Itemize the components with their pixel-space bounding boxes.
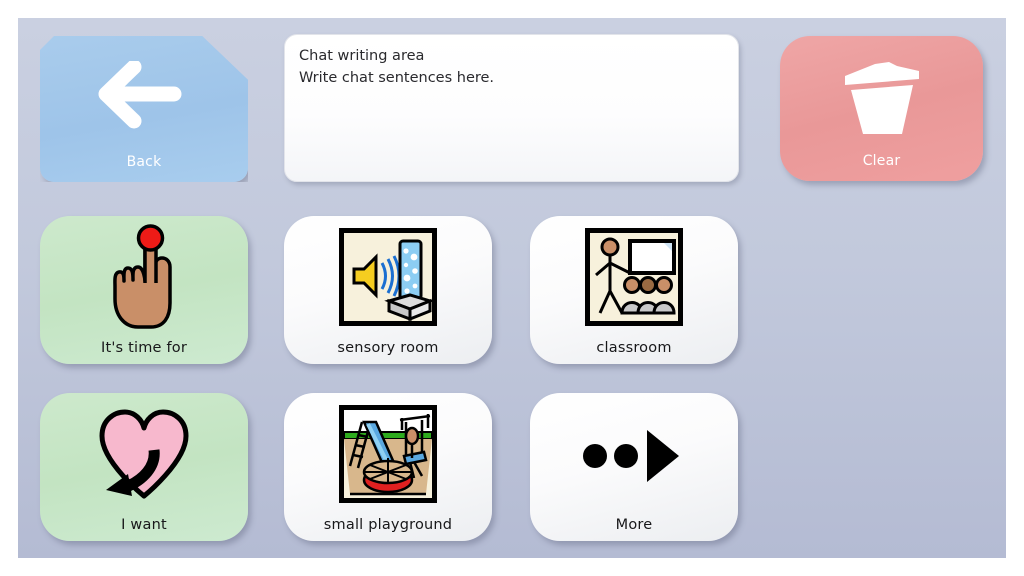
cell-label: I want [40, 517, 248, 533]
cell-label: small playground [284, 517, 492, 533]
pointing-hand-icon [40, 216, 248, 338]
cell-label: It's time for [40, 340, 248, 356]
arrow-left-icon [40, 36, 248, 156]
communication-board: Back Chat writing area Write chat senten… [18, 18, 1006, 558]
heart-arrow-icon [40, 393, 248, 515]
bubble-tube-speaker-icon [339, 228, 437, 326]
cell-sensory-room[interactable]: sensory room [284, 216, 492, 364]
cell-classroom[interactable]: classroom [530, 216, 738, 364]
chat-line-title: Chat writing area [299, 45, 724, 67]
back-button-label: Back [40, 154, 248, 170]
cell-more[interactable]: More [530, 393, 738, 541]
cell-small-playground[interactable]: small playground [284, 393, 492, 541]
dots-arrow-right-icon [530, 393, 738, 515]
cell-i-want[interactable]: I want [40, 393, 248, 541]
cell-label: More [530, 517, 738, 533]
teacher-whiteboard-students-icon [585, 228, 683, 326]
cell-label: classroom [530, 340, 738, 356]
cell-its-time-for[interactable]: It's time for [40, 216, 248, 364]
playground-slide-swing-roundabout-icon [339, 405, 437, 503]
clear-button[interactable]: Clear [780, 36, 983, 181]
trash-can-icon [780, 36, 983, 155]
clear-button-label: Clear [780, 153, 983, 169]
chat-line-body: Write chat sentences here. [299, 67, 724, 89]
chat-writing-area[interactable]: Chat writing area Write chat sentences h… [284, 34, 739, 182]
back-button[interactable]: Back [40, 36, 248, 182]
cell-label: sensory room [284, 340, 492, 356]
